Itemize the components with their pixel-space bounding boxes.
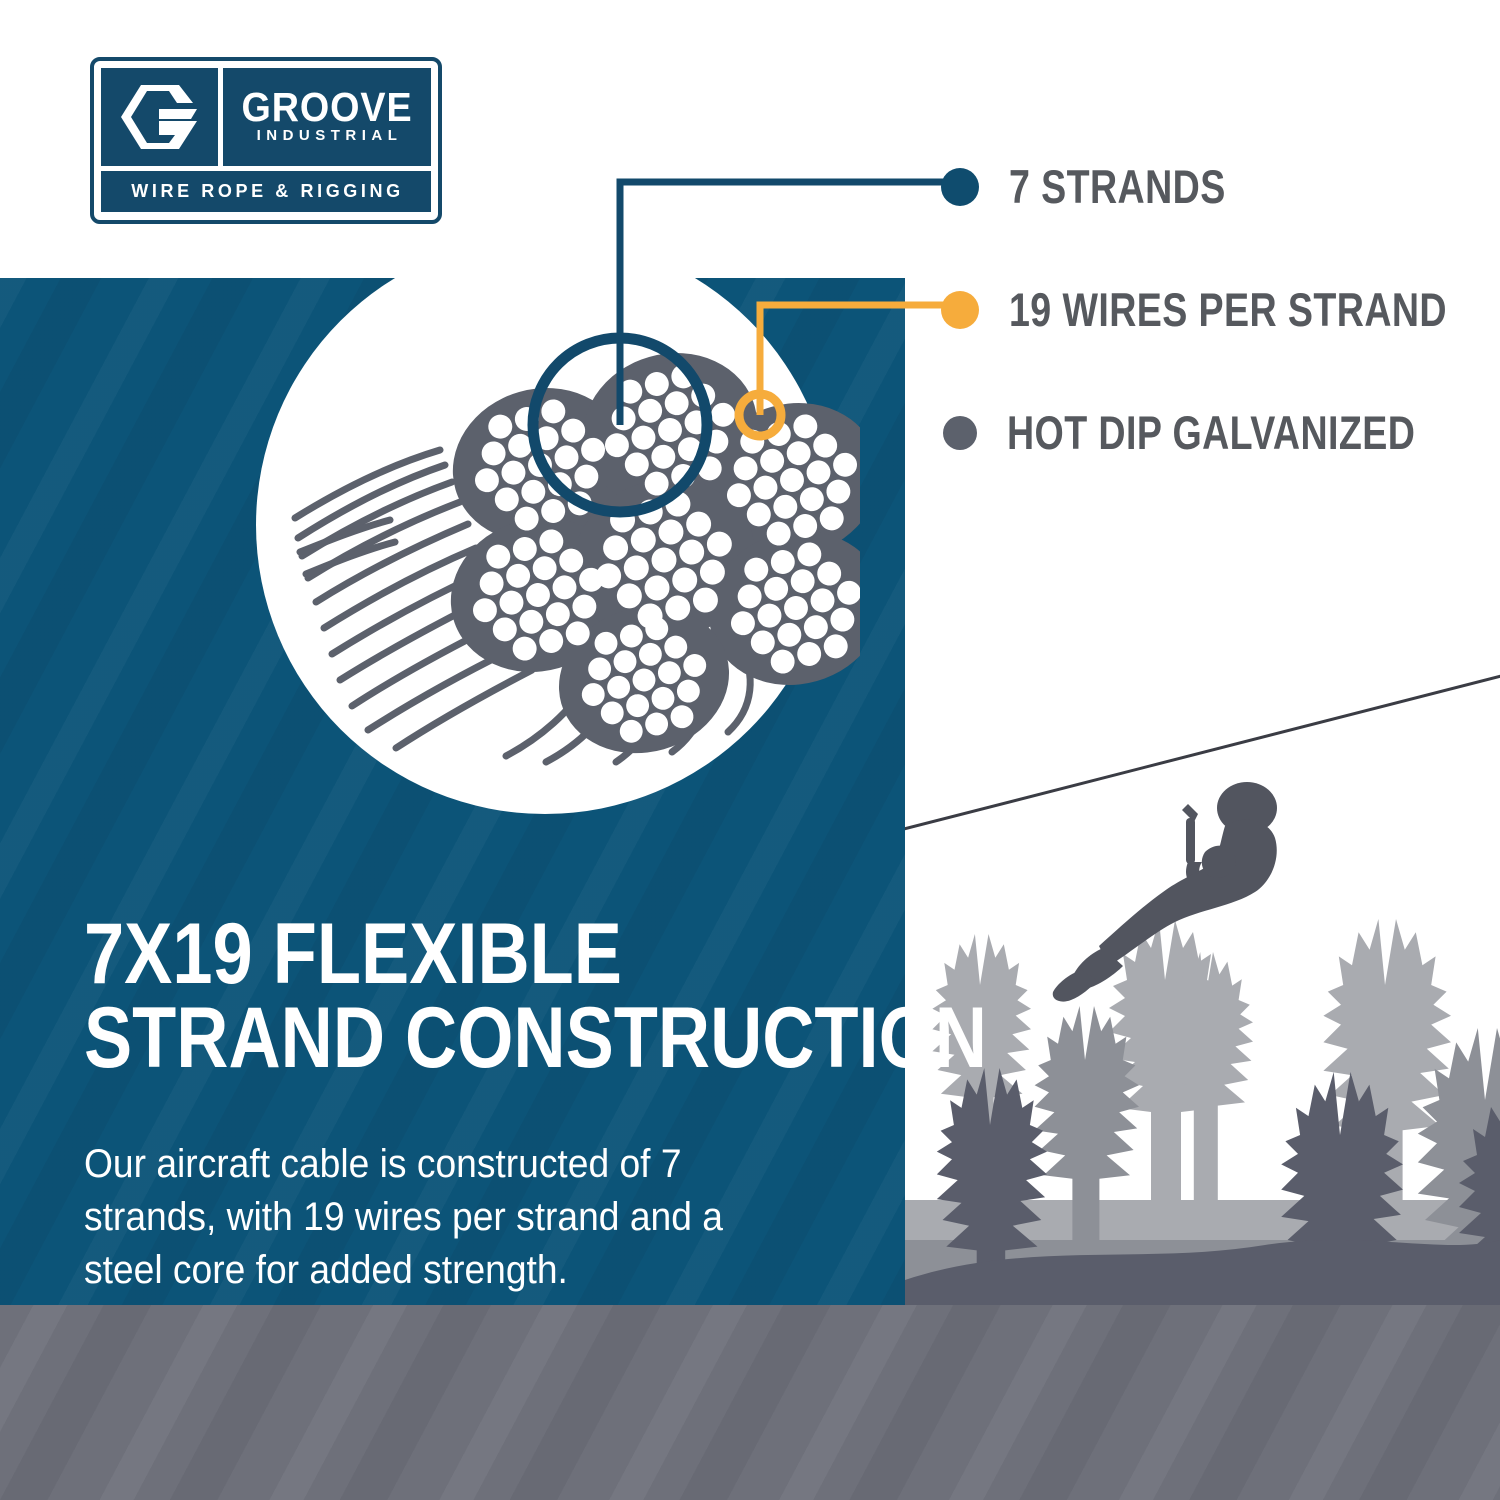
callout-dot-orange-icon	[941, 291, 979, 329]
bottom-gray-band	[0, 1305, 1500, 1500]
body-line-3: steel core for added strength.	[84, 1244, 847, 1297]
callout-label-strands: 7 STRANDS	[1009, 163, 1226, 210]
callout-label-wires: 19 WIRES PER STRAND	[1009, 286, 1447, 333]
callout-hot-dip-galvanized[interactable]: HOT DIP GALVANIZED	[943, 409, 1500, 456]
callout-dot-blue-icon	[941, 168, 979, 206]
logo-tagline: WIRE ROPE & RIGGING	[128, 181, 403, 202]
callout-dot-gray-icon	[943, 416, 977, 450]
body-line-1: Our aircraft cable is constructed of 7	[84, 1138, 847, 1191]
callout-label-galvanized: HOT DIP GALVANIZED	[1007, 409, 1415, 456]
description-text: Our aircraft cable is constructed of 7 s…	[84, 1138, 847, 1297]
gray-band-stripe-texture	[0, 1305, 1500, 1500]
logo-wordmark: GROOVE	[241, 87, 412, 127]
brand-logo[interactable]: GROOVE INDUSTRIAL WIRE ROPE & RIGGING	[90, 57, 442, 224]
callout-strands[interactable]: 7 STRANDS	[941, 163, 1280, 210]
body-line-2: strands, with 19 wires per strand and a	[84, 1191, 847, 1244]
infographic-canvas: 7 STRANDS 19 WIRES PER STRAND HOT DIP GA…	[0, 0, 1500, 1500]
page-title: 7X19 FLEXIBLE STRAND CONSTRUCTION	[84, 912, 748, 1080]
callout-wires-per-strand[interactable]: 19 WIRES PER STRAND	[941, 286, 1500, 333]
headline-line-1: 7X19 FLEXIBLE	[84, 912, 748, 996]
headline-line-2: STRAND CONSTRUCTION	[84, 996, 748, 1080]
groove-g-monogram-icon	[101, 68, 218, 166]
zipline-photo	[905, 640, 1500, 1305]
